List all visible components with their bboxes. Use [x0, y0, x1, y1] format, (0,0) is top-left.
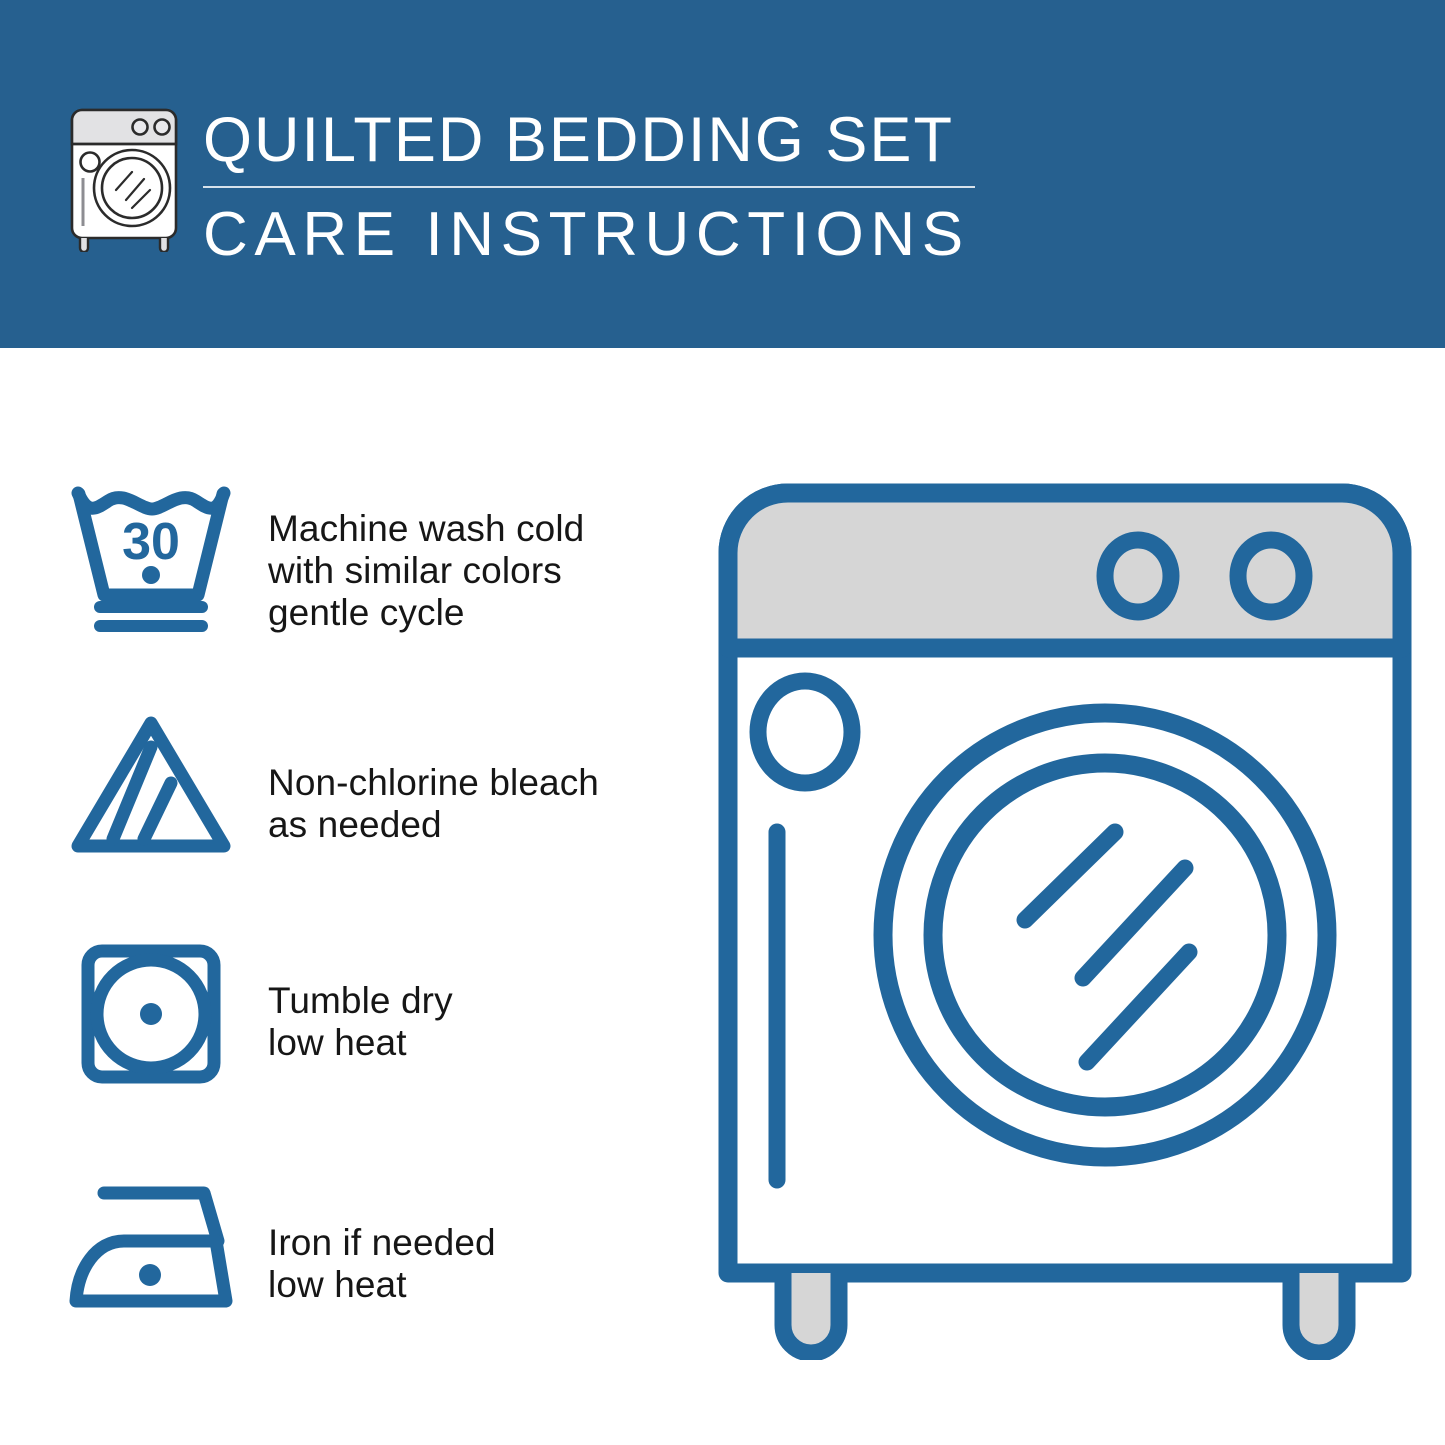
- list-item-label: Machine wash cold with similar colors ge…: [246, 508, 584, 634]
- title-divider: [203, 186, 975, 188]
- leg-left: [783, 1273, 839, 1353]
- page-title: QUILTED BEDDING SET: [203, 104, 1003, 176]
- iron-low-heat-icon: [66, 1160, 246, 1330]
- care-instructions-page: QUILTED BEDDING SET CARE INSTRUCTIONS: [0, 0, 1445, 1445]
- care-instruction-list: 30 Machine wash cold with similar colors…: [0, 470, 700, 1390]
- washing-machine-illustration: [715, 480, 1415, 1360]
- wash-tub-30-icon: 30: [66, 470, 246, 640]
- detergent-dispenser: [758, 681, 852, 783]
- tumble-dry-low-heat-icon: [66, 930, 246, 1100]
- knob-right: [1238, 540, 1304, 612]
- leg-right: [1291, 1273, 1347, 1353]
- list-item-label: Iron if needed low heat: [246, 1222, 496, 1306]
- list-item: Tumble dry low heat: [0, 930, 700, 1160]
- list-item-label: Non-chlorine bleach as needed: [246, 762, 599, 846]
- washing-machine-icon: [66, 104, 182, 252]
- header-text-block: QUILTED BEDDING SET CARE INSTRUCTIONS: [203, 104, 1003, 270]
- knob-left: [1105, 540, 1171, 612]
- list-item: Iron if needed low heat: [0, 1160, 700, 1390]
- list-item: 30 Machine wash cold with similar colors…: [0, 470, 700, 700]
- wash-temperature-value: 30: [122, 513, 180, 571]
- header-banner: QUILTED BEDDING SET CARE INSTRUCTIONS: [0, 0, 1445, 348]
- non-chlorine-bleach-triangle-icon: [66, 700, 246, 870]
- list-item: Non-chlorine bleach as needed: [0, 700, 700, 930]
- page-subtitle: CARE INSTRUCTIONS: [203, 200, 1003, 270]
- list-item-label: Tumble dry low heat: [246, 980, 453, 1064]
- door-inner-ring: [933, 763, 1277, 1107]
